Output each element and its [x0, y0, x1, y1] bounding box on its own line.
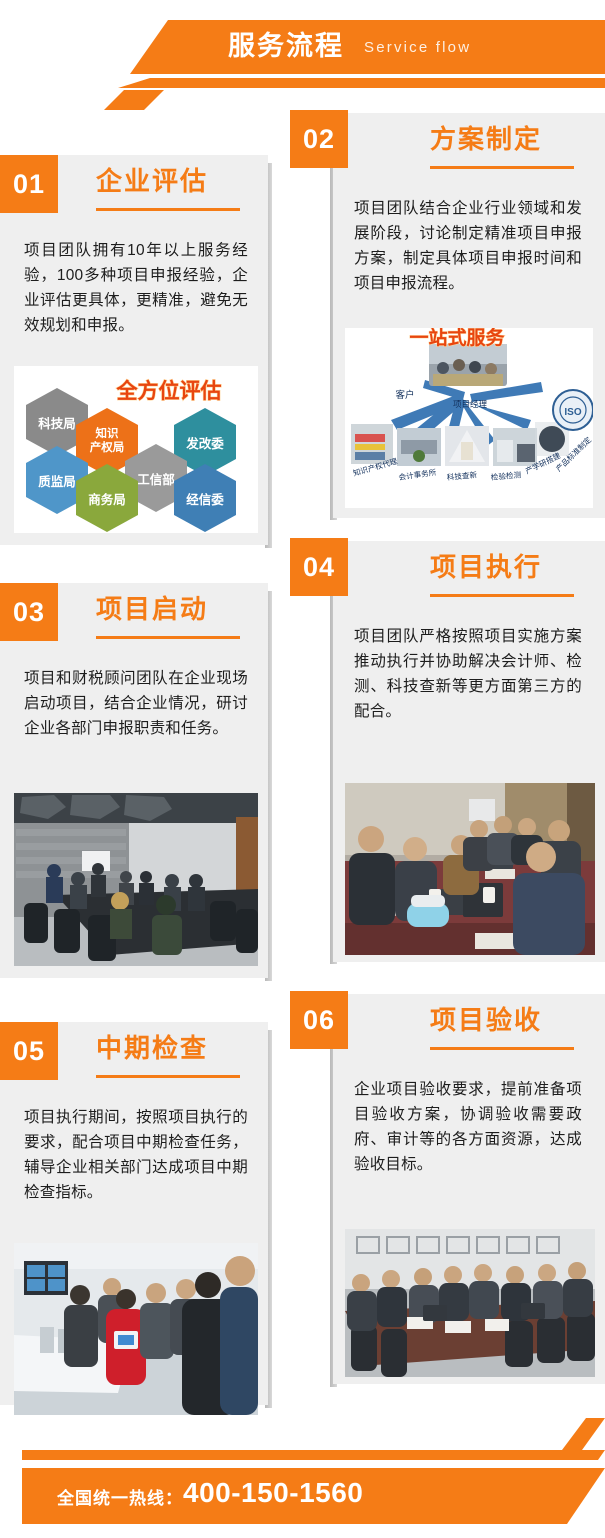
card-01-hex-diagram: 科技局 知识 产权局 发改委 质监局 工信部 商务局 经信委 全方位评估: [14, 366, 258, 533]
card-04-photo-conference-table: [345, 783, 595, 955]
infographic-page: 服务流程 Service flow 01 企业评估 项目团队拥有10年以上服务经…: [0, 0, 605, 1538]
iso-badge-label: ISO: [564, 407, 581, 418]
svg-text:科技局: 科技局: [38, 416, 76, 431]
card-04-number-badge: 04: [290, 538, 348, 596]
footer-banner: 全国统一热线： 400-150-1560: [0, 1418, 605, 1538]
card-03-number: 03: [13, 597, 45, 628]
card-02-onestop-diagram: ISO 客户 项目经理 知识产权代理 会计事务所 科技查新 检验检测 产学研搭建…: [345, 328, 593, 508]
header-banner: 服务流程 Service flow: [0, 0, 605, 110]
card-05-body: 项目执行期间，按照项目执行的要求，配合项目中期检查任务，辅导企业相关部门达成项目…: [24, 1105, 248, 1205]
card-01-number: 01: [13, 169, 45, 200]
card-02-body: 项目团队结合企业行业领域和发展阶段，讨论制定精准项目申报方案，制定具体项目申报时…: [354, 196, 582, 296]
card-06-title-rule: [430, 1047, 574, 1050]
card-02-number-badge: 02: [290, 110, 348, 168]
card-06-number: 06: [303, 1005, 335, 1036]
footer-secondary-bar: [22, 1450, 605, 1460]
svg-text:知识: 知识: [95, 426, 119, 440]
card-06-body: 企业项目验收要求，提前准备项目验收方案，协调验收需要政府、审计等的各方面资源，达…: [354, 1077, 582, 1177]
footer-hotline-number[interactable]: 400-150-1560: [183, 1477, 363, 1509]
card-05-number-badge: 05: [0, 1022, 58, 1080]
card-06-title: 项目验收: [430, 1004, 542, 1036]
svg-text:项目经理: 项目经理: [453, 399, 488, 409]
svg-text:发改委: 发改委: [185, 436, 224, 451]
card-02-title-rule: [430, 166, 574, 169]
card-02-title: 方案制定: [430, 123, 542, 155]
hex-diagram-title: 全方位评估: [116, 379, 222, 403]
svg-text:质监局: 质监局: [38, 474, 76, 489]
card-03-body: 项目和财税顾问团队在企业现场启动项目，结合企业情况，研讨企业各部门申报职责和任务…: [24, 666, 248, 741]
page-title: 服务流程: [228, 26, 344, 66]
card-01-number-badge: 01: [0, 155, 58, 213]
card-05-title: 中期检查: [96, 1032, 208, 1064]
card-03-photo-meeting-room: [14, 793, 258, 966]
card-03-title-rule: [96, 636, 240, 639]
page-subtitle: Service flow: [364, 36, 471, 60]
svg-text:工信部: 工信部: [137, 472, 175, 487]
banner-secondary-bar: [118, 78, 605, 88]
card-04-body: 项目团队严格按照项目实施方案推动执行并协助解决会计师、检测、科技查新等更方面第三…: [354, 624, 582, 724]
card-03-title: 项目启动: [96, 593, 208, 625]
card-04-number: 04: [303, 552, 335, 583]
svg-text:产权局: 产权局: [90, 440, 125, 454]
card-06-photo-boardroom: [345, 1229, 595, 1377]
svg-text:商务局: 商务局: [88, 492, 126, 507]
card-03-number-badge: 03: [0, 583, 58, 641]
card-04-title: 项目执行: [430, 551, 542, 583]
card-05-number: 05: [13, 1036, 45, 1067]
card-06-number-badge: 06: [290, 991, 348, 1049]
card-01-title-rule: [96, 208, 240, 211]
footer-nose-chevron: [540, 1418, 605, 1450]
card-05-title-rule: [96, 1075, 240, 1078]
footer-hotline-label: 全国统一热线：: [57, 1484, 183, 1509]
card-01-body: 项目团队拥有10年以上服务经验，100多种项目申报经验，企业评估更具体，更精准，…: [24, 238, 248, 338]
onestop-diagram-title: 一站式服务: [409, 328, 505, 349]
banner-tail-chevron: [104, 90, 164, 110]
svg-text:客户: 客户: [395, 389, 414, 401]
svg-text:经信委: 经信委: [186, 492, 224, 507]
card-04-title-rule: [430, 594, 574, 597]
card-02-number: 02: [303, 124, 335, 155]
card-01-title: 企业评估: [96, 165, 208, 197]
card-05-photo-showroom-visit: [14, 1243, 258, 1415]
